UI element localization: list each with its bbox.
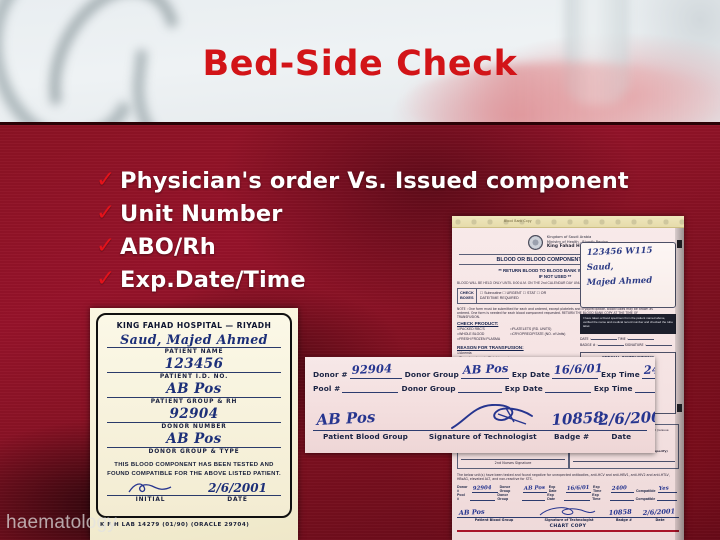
card-field-donor-number: 92904 DONOR NUMBER [107,407,281,430]
mini-expdate-label: Exp Date [547,493,562,501]
field-value: AB Pos [107,382,281,398]
mini-badge-label: Badge # [607,518,641,522]
field-value: AB Pos [107,432,281,448]
technologist-signature-label: Signature of Technologist [418,432,548,441]
mini-group-label: Donor Group [500,485,522,493]
compatibility-tag-card: KING FAHAD HOSPITAL — RIYADH Saud, Majed… [90,308,298,540]
registration-mark-icon [677,404,682,412]
mini-signature-label: Signature of Technologist [531,518,607,522]
list-item: ✓ Unit Number [96,199,696,232]
field-value: 123456 [107,357,281,373]
field-label: PATIENT NAME [107,349,281,355]
card-field-donor-group: AB Pos DONOR GROUP & TYPE [107,432,281,455]
mini-compatible-label: Compatible [636,497,656,501]
donor-group-field[interactable] [458,380,502,393]
date-label: DATE [194,497,281,503]
field-label: DONOR NUMBER [107,424,281,430]
patient-blood-group-cell: AB Pos Patient Blood Group [313,406,418,441]
technologist-signature-value [418,406,548,431]
mini-group-label: Donor Group [497,493,519,501]
products-left-column: PACKED RBC'S WHOLE BLOOD FRESH FROZEN PL… [457,327,500,342]
compatibility-note-line2: FOUND COMPATIBLE FOR THE ABOVE LISTED PA… [107,470,281,479]
date-cell: 2/6/2001 Date [595,406,647,441]
date-label: DATE : [580,337,591,341]
date-value: 2/6/2001 [194,481,281,496]
product-option[interactable]: FRESH FROZEN PLASMA [457,337,500,342]
exp-date-field[interactable]: 16/6/01 [552,366,598,379]
hospital-name: KING FAHAD HOSPITAL — RIYADH [107,321,281,330]
mini-donor-label: Donor # [457,485,470,493]
check-icon: ✓ [96,199,120,228]
donor-group-label: Donor Group [401,384,455,393]
exp-time-label: Exp Time [601,370,640,379]
product-option[interactable]: CRYOPRECIPITATE (NO. of Units) [510,332,565,337]
list-item: ✓ Exp.Date/Time [96,265,696,298]
mini-date-cell: 2/6/2001 Date [641,507,679,522]
mini-pool-field [470,494,496,501]
exp-time-label: Exp Time [594,384,633,393]
mini-compatible-label: Compatible [636,489,656,493]
mini-donor-block: Donor # 92904 Donor Group AB Pos Exp Dat… [457,485,679,501]
second-nurse-caption: 2nd Nurses Signature [461,461,565,465]
form-bottom-red-bar [457,530,679,532]
card-field-patient-group: AB Pos PATIENT GROUP & RH [107,382,281,405]
mini-expdate-field: 16/6/01 [566,486,591,493]
card-field-patient-id: 123456 PATIENT I.D. NO. [107,357,281,380]
patient-blood-group-value: AB Pos [313,406,418,431]
mini-patient-group-label: Patient Blood Group [457,518,531,522]
list-item-label: Exp.Date/Time [120,265,306,295]
date-value: 2/6/2001 [595,406,647,431]
mini-date-value: 2/6/2001 [641,507,679,518]
time-rule [628,339,654,340]
difficulties-rule [573,453,675,462]
initial-label: INITIAL [107,497,194,503]
footer-watermark: haematology [6,512,117,534]
field-label: PATIENT GROUP & RH [107,399,281,405]
time-label: TIME : [618,337,628,341]
check-icon: ✓ [96,166,120,195]
badge-label: Badge # [548,432,596,441]
mini-badge-value: 10858 [607,507,641,518]
mini-exptime-field: 2400 [611,486,634,493]
exp-time-field[interactable] [635,380,655,393]
exp-date-label: Exp Date [505,384,543,393]
mini-date-label: Date [641,518,679,522]
technologist-signature-cell: Signature of Technologist [418,406,548,441]
mini-bottom-row: AB Pos Patient Blood Group Signature of … [457,507,679,522]
collection-datetime-row: DATE : TIME : BADGE # : SIGNATURE : [580,336,676,348]
check-icon: ✓ [96,265,120,294]
mini-pool-label: Pool # [457,493,468,501]
list-item-label: Physician's order Vs. Issued component [120,166,629,196]
mini-group-field [522,494,546,501]
list-item: ✓ ABO/Rh [96,232,696,265]
badge-label: BADGE # : [580,343,598,347]
slide-canvas: Bed-Side Check ✓ Physician's order Vs. I… [0,0,720,540]
mini-expdate-label: Exp Date [549,485,564,493]
mini-exptime-label: Exp Time [592,493,608,501]
mini-donor-field: 92904 [472,486,497,493]
mini-signature-value [531,507,607,518]
slip-row-donor: Donor # 92904 Donor Group AB Pos Exp Dat… [313,365,647,379]
date-label: Date [595,432,647,441]
card-footer-code: K F H LAB 14279 (01/90) (ORACLE 29704) [100,522,292,528]
technologist-signature-icon [537,506,597,517]
list-item-label: Unit Number [120,199,282,229]
exp-date-label: Exp Date [512,370,550,379]
mini-badge-cell: 10858 Badge # [607,507,641,522]
card-field-patient-name: Saud, Majed Ahmed PATIENT NAME [107,332,281,355]
compatibility-card-frame: KING FAHAD HOSPITAL — RIYADH Saud, Majed… [96,313,292,518]
badge-rule [598,345,624,346]
field-value: Saud, Majed Ahmed [107,332,281,348]
list-item: ✓ Physician's order Vs. Issued component [96,166,696,199]
chart-copy-label: CHART COPY [457,524,679,529]
date-rule [591,339,617,340]
exp-date-field[interactable] [545,380,591,393]
mini-expdate-field [564,494,590,501]
negative-testing-note: The below unit(s) have been tested and f… [457,473,679,482]
mini-patient-group-cell: AB Pos Patient Blood Group [457,507,531,522]
list-item-label: ABO/Rh [120,232,216,262]
donor-verification-slip: Donor # 92904 Donor Group AB Pos Exp Dat… [305,357,655,453]
signature-rule [646,345,672,346]
phlebotomy-attestation: I have taken a blood specimen from the p… [580,314,676,334]
card-signature-row: INITIAL 2/6/2001 DATE [107,481,281,503]
mini-donor-row-2: Pool # Donor Group Exp Date Exp Time Com… [457,493,679,501]
mini-signature-cell: Signature of Technologist [531,507,607,522]
field-value: 92904 [107,407,281,423]
mini-donor-row-1: Donor # 92904 Donor Group AB Pos Exp Dat… [457,485,679,493]
pool-number-field[interactable] [342,380,398,393]
bullet-list: ✓ Physician's order Vs. Issued component… [96,166,696,298]
technologist-signature-icon [448,402,544,432]
field-label: DONOR GROUP & TYPE [107,449,281,455]
initial-value [107,481,194,496]
exp-time-field[interactable]: 2400 [642,366,655,379]
compatibility-note-line1: THIS BLOOD COMPONENT HAS BEEN TESTED AND [107,461,281,470]
patient-blood-group-label: Patient Blood Group [313,432,418,441]
mini-group-field: AB Pos [523,486,546,493]
donor-group-label: Donor Group [405,370,459,379]
products-right-column: PLATELETS (RD. UNITS) CRYOPRECIPITATE (N… [510,327,565,342]
badge-value: 10858 [548,406,596,431]
mini-exptime-label: Exp Time [593,485,609,493]
card-date-cell: 2/6/2001 DATE [194,481,281,503]
initial-signature-icon [125,481,177,495]
donor-number-label: Donor # [313,370,348,379]
pool-number-label: Pool # [313,384,340,393]
mini-patient-group-value: AB Pos [457,507,531,518]
card-initial-cell: INITIAL [107,481,194,503]
slip-row-pool: Pool # Donor Group Exp Date Exp Time Com… [313,379,647,393]
donor-group-field[interactable]: AB Pos [461,366,509,379]
signature-label: SIGNATURE : [625,343,646,347]
check-icon: ✓ [96,232,120,261]
donor-number-field[interactable]: 92904 [350,366,402,379]
mini-exptime-field [610,494,634,501]
badge-cell: 10858 Badge # [548,406,596,441]
field-label: PATIENT I.D. NO. [107,374,281,380]
slip-bottom-row: AB Pos Patient Blood Group Signature of … [313,406,647,441]
page-title: Bed-Side Check [0,44,720,84]
